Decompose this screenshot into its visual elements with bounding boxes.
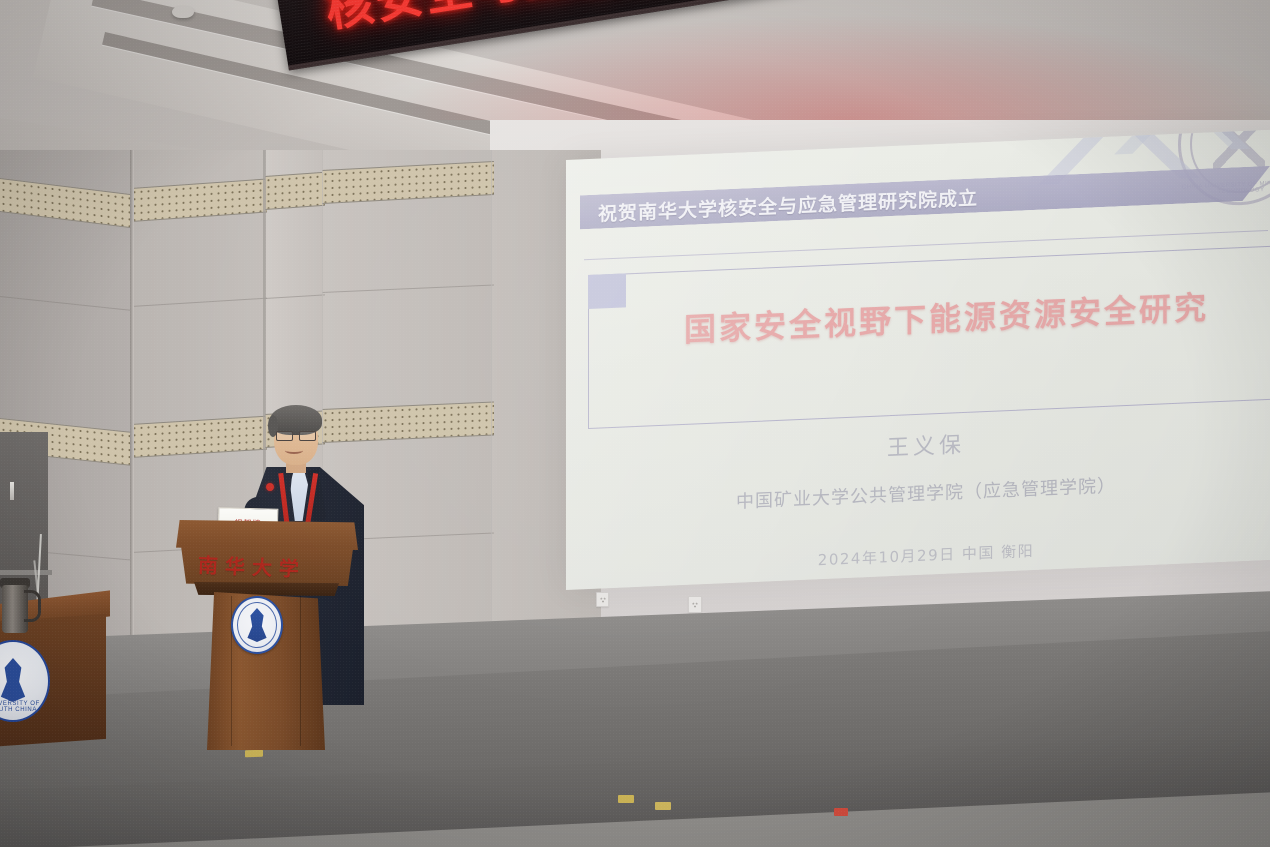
podium-institution-text: 南华大学 (197, 549, 348, 584)
wall-corner-post (130, 150, 134, 710)
wall-outlet (688, 596, 702, 613)
podium-column-edge (300, 596, 301, 746)
thermos-handle (24, 590, 41, 622)
floor-marker (245, 750, 263, 758)
wall-seam (491, 150, 492, 670)
slide-header-banner: 祝贺南华大学核安全与应急管理研究院成立 (580, 166, 1270, 230)
floor-marker (834, 808, 848, 816)
slide-affiliation: 中国矿业大学公共管理学院（应急管理学院） (566, 464, 1270, 521)
perforated-band (265, 172, 325, 210)
wall-switch-plate (596, 592, 609, 607)
smoke-detector-icon (172, 6, 194, 18)
lapel-pin-icon (266, 483, 274, 491)
emblem-caption: UNIVERSITY OF SOUTH CHINA (0, 701, 48, 713)
equipment-shelf (0, 570, 52, 575)
slide-title-chip (588, 273, 626, 309)
eyeglasses-icon (276, 431, 316, 439)
slide-header-text: 祝贺南华大学核安全与应急管理研究院成立 (598, 183, 978, 226)
projection-screen: CHINA UNIVERSITY OF MINING AND TECHNOLOG… (566, 129, 1270, 590)
speaker-mouth (285, 447, 303, 454)
floor-marker (618, 795, 634, 803)
main-podium: 祝贺牌 南华大学 (176, 520, 358, 750)
conference-photo-scene: CHINA UNIVERSITY OF MINING AND TECHNOLOG… (0, 0, 1270, 847)
equipment-indicator-icon (10, 482, 14, 500)
university-emblem-icon (231, 596, 283, 654)
podium-desktop (176, 520, 358, 550)
floor-marker (655, 802, 671, 810)
